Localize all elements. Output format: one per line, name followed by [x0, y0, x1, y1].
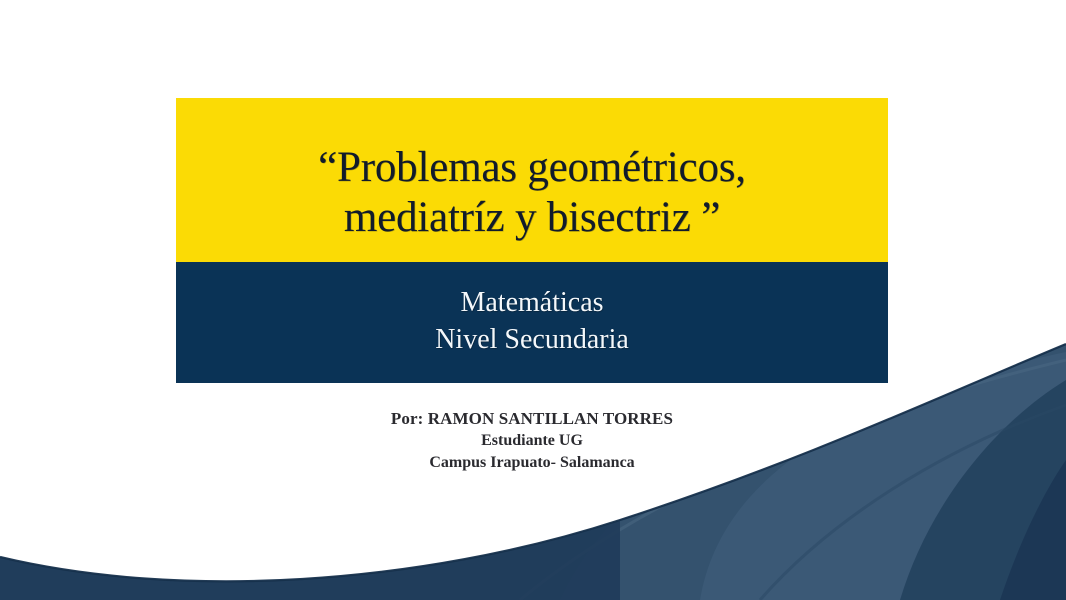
author-campus: Campus Irapuato- Salamanca: [176, 452, 888, 474]
author-name: Por: RAMON SANTILLAN TORRES: [176, 408, 888, 430]
swoosh-arc-2: [700, 352, 1066, 600]
swoosh-arc-line-1: [520, 360, 1066, 600]
author-credit-block: Por: RAMON SANTILLAN TORRES Estudiante U…: [176, 408, 888, 474]
title-banner: “Problemas geométricos, mediatríz y bise…: [176, 98, 888, 262]
title-block: “Problemas geométricos, mediatríz y bise…: [176, 98, 888, 383]
subtitle-banner: Matemáticas Nivel Secundaria: [176, 262, 888, 383]
title-line-2: mediatríz y bisectriz ”: [344, 193, 720, 243]
swoosh-tail-left: [0, 520, 620, 600]
swoosh-arc-4: [1000, 460, 1066, 600]
author-role: Estudiante UG: [176, 430, 888, 452]
subtitle-line-1: Matemáticas: [460, 284, 603, 321]
subtitle-line-2: Nivel Secundaria: [435, 321, 629, 358]
title-line-1: “Problemas geométricos,: [318, 143, 746, 193]
presentation-slide: “Problemas geométricos, mediatríz y bise…: [0, 0, 1066, 600]
swoosh-arc-3: [900, 380, 1066, 600]
